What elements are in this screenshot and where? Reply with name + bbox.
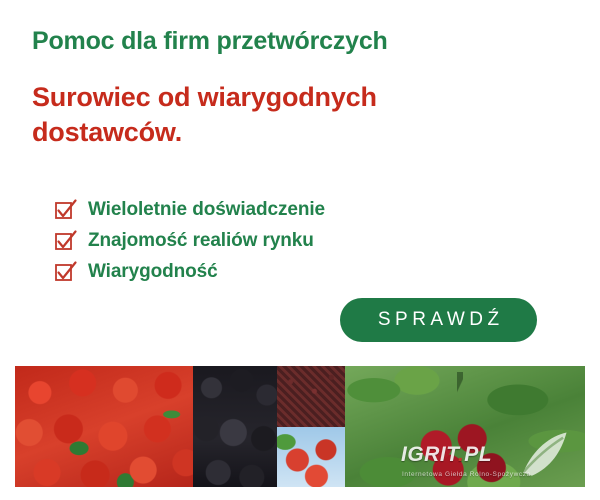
watermark-tagline: Internetowa Giełda Rolno-Spożywcza: [402, 471, 531, 478]
list-item-label: Wieloletnie doświadczenie: [88, 199, 325, 221]
promo-banner: Pomoc dla firm przetwórczych Surowiec od…: [0, 0, 600, 500]
sprawdz-cta-button[interactable]: SPRAWDŹ: [340, 298, 537, 342]
list-item: Znajomość realiów rynku: [54, 225, 325, 256]
checkbox-checked-icon: [54, 232, 72, 250]
igrit-watermark: IGRIT.PL Internetowa Giełda Rolno-Spożyw…: [397, 427, 577, 483]
checkbox-checked-icon: [54, 263, 72, 281]
list-item: Wieloletnie doświadczenie: [54, 194, 325, 225]
watermark-brand: IGRIT.PL: [401, 443, 492, 467]
subtitle: Surowiec od wiarygodnych dostawców.: [32, 80, 552, 149]
list-item-label: Znajomość realiów rynku: [88, 230, 314, 252]
cherries-photo: IGRIT.PL Internetowa Giełda Rolno-Spożyw…: [345, 366, 585, 487]
watermark-brand-name: IGRIT: [401, 443, 458, 466]
page-title: Pomoc dla firm przetwórczych: [32, 27, 388, 56]
strawberries-photo: [15, 366, 193, 487]
leaf-icon: [517, 429, 571, 481]
blackcurrants-photo: [193, 366, 277, 487]
watermark-tld: PL: [464, 443, 492, 466]
mixed-berries-photo: [277, 366, 345, 487]
subtitle-line-1: Surowiec od wiarygodnych: [32, 82, 377, 112]
watermark-dot: .: [458, 443, 464, 466]
list-item-label: Wiarygodność: [88, 261, 218, 283]
product-photo-strip: IGRIT.PL Internetowa Giełda Rolno-Spożyw…: [15, 366, 585, 487]
checkbox-checked-icon: [54, 201, 72, 219]
subtitle-line-2: dostawców.: [32, 115, 552, 150]
benefits-list: Wieloletnie doświadczenie Znajomość real…: [54, 194, 325, 287]
list-item: Wiarygodność: [54, 256, 325, 287]
